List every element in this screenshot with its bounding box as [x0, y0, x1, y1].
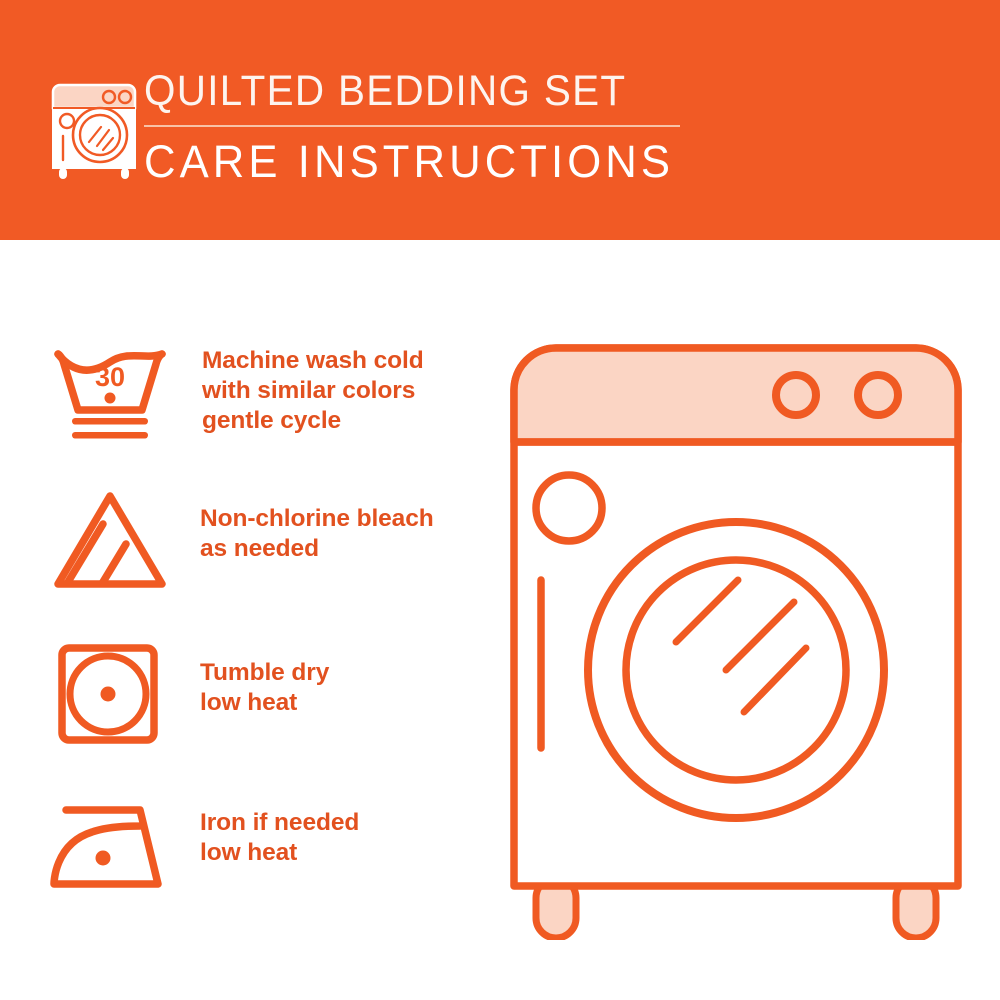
washing-machine-icon: [45, 72, 143, 180]
washing-machine-illustration: [496, 330, 976, 940]
care-text-iron: Iron if needed low heat: [200, 808, 490, 868]
care-row-bleach: Non-chlorine bleach as needed: [0, 488, 500, 628]
non-chlorine-bleach-triangle-icon: [48, 488, 172, 592]
wash-temperature-label: 30: [95, 362, 125, 392]
care-text-tumble-dry: Tumble dry low heat: [200, 658, 490, 718]
title-divider: [144, 125, 680, 127]
care-text-line: Tumble dry: [200, 658, 490, 688]
tumble-dry-low-heat-icon: [54, 640, 164, 748]
care-text-line: Machine wash cold: [202, 346, 492, 376]
care-text-line: as needed: [200, 534, 490, 564]
care-instruction-list: 30 Machine wash cold with similar colors…: [0, 240, 500, 1000]
care-instructions-infographic: QUILTED BEDDING SET CARE INSTRUCTIONS 30…: [0, 0, 1000, 1000]
care-text-machine-wash: Machine wash cold with similar colors ge…: [202, 346, 492, 436]
control-panel: [514, 348, 958, 442]
page-subtitle: CARE INSTRUCTIONS: [144, 136, 823, 188]
care-text-line: low heat: [200, 838, 490, 868]
care-text-line: gentle cycle: [202, 406, 492, 436]
iron-low-heat-icon: [48, 798, 176, 896]
header-text-block: QUILTED BEDDING SET CARE INSTRUCTIONS: [144, 66, 844, 188]
care-text-line: low heat: [200, 688, 490, 718]
header-band: QUILTED BEDDING SET CARE INSTRUCTIONS: [0, 0, 1000, 240]
page-title: QUILTED BEDDING SET: [144, 66, 802, 116]
care-row-iron: Iron if needed low heat: [0, 792, 500, 932]
care-row-machine-wash: 30 Machine wash cold with similar colors…: [0, 340, 500, 480]
care-text-line: Iron if needed: [200, 808, 490, 838]
care-row-tumble-dry: Tumble dry low heat: [0, 640, 500, 780]
care-text-line: Non-chlorine bleach: [200, 504, 490, 534]
care-text-line: with similar colors: [202, 376, 492, 406]
care-text-bleach: Non-chlorine bleach as needed: [200, 504, 490, 564]
wash-tub-30-gentle-icon: 30: [48, 340, 172, 448]
